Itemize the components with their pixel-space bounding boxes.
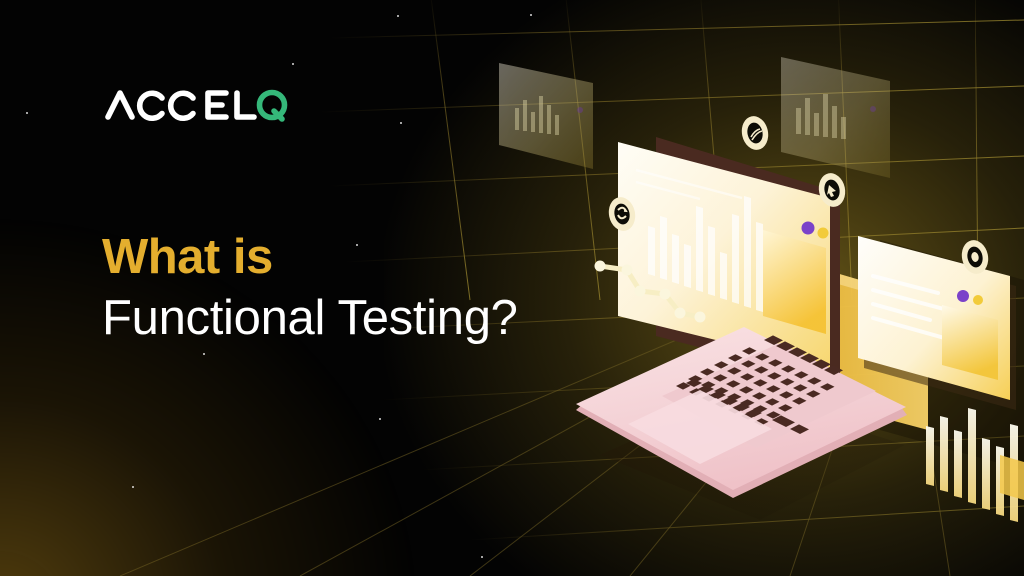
accent-block: [1000, 455, 1024, 500]
headline-line-1: What is: [102, 232, 662, 284]
badge-icon-signal: [739, 114, 772, 153]
headline-line-2: Functional Testing?: [102, 290, 662, 348]
logo-q-mark: [260, 93, 285, 120]
brand-logo[interactable]: [104, 84, 294, 128]
ghost-screen-left: [499, 63, 593, 169]
page-title: What is Functional Testing?: [102, 232, 662, 348]
logo-accel-text: [108, 93, 254, 118]
ghost-screen-right: [781, 57, 890, 178]
hero-banner: What is Functional Testing?: [0, 0, 1024, 576]
